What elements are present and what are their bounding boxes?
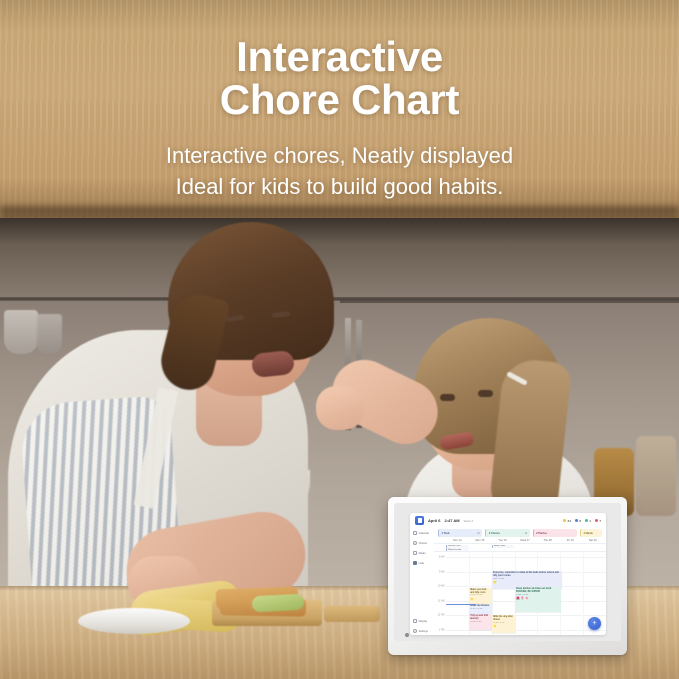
time-axis-label: 8 AM <box>439 555 444 558</box>
view-selector-label: Week <box>464 519 471 523</box>
camera-sensor-icon <box>405 633 409 637</box>
chip-red[interactable]: 7 <box>595 519 601 523</box>
chip-count: 1 <box>589 519 591 523</box>
sidebar-item-display[interactable]: Display <box>413 619 432 623</box>
chore-chart-app[interactable]: April 6 2:47 AM Week ▾ 24617 CalendarCho… <box>410 513 606 635</box>
sidebar-item-label: Meals <box>419 552 426 555</box>
event-emoji-icon: ⭐ <box>470 598 491 601</box>
summary-banner-row: 1 Task123 Chores122 Parties4 Meals <box>434 528 606 539</box>
daughter-eye-left <box>440 394 455 401</box>
kitchen-rail-secondary <box>340 300 679 303</box>
calendar-grid[interactable]: 8 AM9 AM10 AM11 AM12 PM1 PM Everyone, re… <box>434 552 606 635</box>
day-label: Tue 16 <box>491 539 514 542</box>
settings-icon <box>413 629 417 633</box>
time-axis-label: 9 AM <box>439 570 444 573</box>
calendar-event[interactable]: Make your bed and tidy room10:00 - 11:00… <box>469 588 492 605</box>
time-axis-label: 11 AM <box>438 599 445 602</box>
ceramic-jar <box>636 436 676 516</box>
day-label: Mon 15 <box>469 539 492 542</box>
sidebar-item-label: Chores <box>419 542 427 545</box>
summary-banner-1[interactable]: 3 Chores12 <box>485 529 529 537</box>
banner-label: 2 Parties <box>536 532 547 535</box>
daughter-eye-right <box>478 390 493 397</box>
all-day-event[interactable]: Swim Class <box>492 545 515 548</box>
day-column-header[interactable]: Mon 15 <box>469 539 492 543</box>
day-label: Fri 19 <box>559 539 582 542</box>
add-icon: + <box>592 620 596 627</box>
status-dot-icon <box>575 519 578 522</box>
sidebar-item-lists[interactable]: Lists <box>413 561 432 565</box>
banner-meta: 12 <box>477 532 480 535</box>
chip-blue[interactable]: 6 <box>575 519 581 523</box>
daughter-hand <box>316 386 364 430</box>
time-axis: 8 AM9 AM10 AM11 AM12 PM1 PM <box>434 552 446 635</box>
time-axis-label: 1 PM <box>439 629 445 632</box>
banner-label: 1 Task <box>442 532 450 535</box>
category-count-chips: 24617 <box>563 519 601 523</box>
calendar-event[interactable]: Clean kitchen and take out trash PACKING… <box>515 587 562 612</box>
app-body: CalendarChoresMealsListsDisplaySettings … <box>410 528 606 635</box>
event-time: 9:00 - 10:30 <box>493 578 560 581</box>
calendar-icon <box>413 531 417 535</box>
hero-title: Interactive Chore Chart <box>0 36 679 122</box>
calendar-event[interactable]: Tidy up and fold laundry12:00 - 1:00 <box>469 614 492 630</box>
tablet-device: April 6 2:47 AM Week ▾ 24617 CalendarCho… <box>388 497 627 655</box>
banner-label: 4 Meals <box>583 532 592 535</box>
sidebar-item-chores[interactable]: Chores <box>413 541 432 545</box>
event-time: 11:30 - 12:00 <box>470 608 491 611</box>
day-column-header[interactable]: Fri 19 <box>559 539 582 543</box>
hanging-pan-left <box>4 310 38 354</box>
lists-icon <box>413 561 417 565</box>
chevron-down-icon: ▾ <box>472 519 473 523</box>
status-dot-icon <box>585 519 588 522</box>
hero-headline: Interactive Chore Chart Interactive chor… <box>0 36 679 202</box>
all-day-event[interactable]: Soccer Prac... <box>446 545 469 548</box>
chip-count: 24 <box>567 519 570 523</box>
product-banner: Interactive Chore Chart Interactive chor… <box>0 0 679 679</box>
event-time: 10:00 - 11:00 <box>470 594 491 597</box>
white-plate <box>78 608 190 634</box>
tablet-screen[interactable]: April 6 2:47 AM Week ▾ 24617 CalendarCho… <box>394 503 621 641</box>
hanging-pan-right <box>36 314 62 354</box>
day-label: Wed 17 <box>514 539 537 542</box>
current-date: April 6 <box>428 518 440 523</box>
sidebar-spacer <box>413 571 432 613</box>
summary-banner-3[interactable]: 4 Meals <box>580 529 602 537</box>
sidebar-item-label: Lists <box>419 562 424 565</box>
banner-meta: 12 <box>524 532 527 535</box>
current-time: 2:47 AM <box>444 518 459 523</box>
calendar-event[interactable]: Water the flowers11:30 - 12:00 <box>469 604 492 614</box>
calendar-main: 1 Task123 Chores122 Parties4 Meals Sun 1… <box>434 528 606 635</box>
view-selector[interactable]: Week ▾ <box>464 519 473 523</box>
event-time: 12:00 - 1:00 <box>470 621 491 624</box>
display-icon <box>413 619 417 623</box>
meals-icon <box>413 551 417 555</box>
summary-banner-2[interactable]: 2 Parties <box>533 529 577 537</box>
event-emoji-icon: 🌺 🌷 🌸 <box>516 597 560 600</box>
time-axis-label: 12 PM <box>438 614 445 617</box>
event-time: 10:00 - 11:30 <box>516 594 560 597</box>
banner-label: 3 Chores <box>489 532 500 535</box>
day-column-header[interactable]: Sun 14 <box>446 539 469 543</box>
hero-subtitle-line2: Ideal for kids to build good habits. <box>176 174 504 199</box>
hero-subtitle-line1: Interactive chores, Neatly displayed <box>166 143 513 168</box>
summary-banner-0[interactable]: 1 Task12 <box>438 529 482 537</box>
event-time: 12:30 - 1:15 <box>493 622 514 625</box>
chip-count: 7 <box>599 519 601 523</box>
sidebar-item-label: Calendar <box>419 532 430 535</box>
sidebar-item-settings[interactable]: Settings <box>413 629 432 633</box>
chip-yellow[interactable]: 24 <box>563 519 571 523</box>
chip-count: 6 <box>579 519 581 523</box>
current-time-indicator <box>446 604 476 605</box>
chip-teal[interactable]: 1 <box>585 519 591 523</box>
status-dot-icon <box>563 519 566 522</box>
sidebar-item-calendar[interactable]: Calendar <box>413 531 432 535</box>
status-dot-icon <box>595 519 598 522</box>
day-column-header[interactable]: Wed 17 <box>514 539 537 543</box>
day-column-header[interactable]: Tue 16 <box>491 539 514 543</box>
hero-subtitle: Interactive chores, Neatly displayed Ide… <box>0 140 679 202</box>
sidebar-item-label: Settings <box>419 630 428 633</box>
event-emoji-icon: ⭐ <box>493 625 514 628</box>
calendar-event[interactable]: Walk the dog after dinner12:30 - 1:15⭐ <box>492 615 515 633</box>
sidebar-item-label: Display <box>419 620 428 623</box>
cutting-board-secondary <box>324 606 380 622</box>
day-column-header[interactable]: Thu 18 <box>536 539 559 543</box>
time-axis-label: 10 AM <box>438 585 445 588</box>
avocado-topping <box>252 594 305 613</box>
day-column-header[interactable]: Sat 20 <box>581 539 604 543</box>
hero-title-line1: Interactive <box>236 33 443 80</box>
add-event-button[interactable]: + <box>588 617 601 630</box>
sidebar-item-meals[interactable]: Meals <box>413 551 432 555</box>
all-day-row[interactable]: Soccer Prac...Piano LessonSwim Class <box>434 544 606 552</box>
hero-title-line2: Chore Chart <box>220 76 459 123</box>
day-label: Sun 14 <box>446 539 469 542</box>
all-day-event[interactable]: Piano Lesson <box>446 548 469 551</box>
day-label: Thu 18 <box>536 539 559 542</box>
calendar-app-icon[interactable] <box>415 516 424 525</box>
app-sidebar[interactable]: CalendarChoresMealsListsDisplaySettings <box>410 528 434 635</box>
app-header: April 6 2:47 AM Week ▾ 24617 <box>410 513 606 528</box>
chores-icon <box>413 541 417 545</box>
day-label: Sat 20 <box>581 539 604 542</box>
event-emoji-icon: 🌟 <box>493 581 560 584</box>
